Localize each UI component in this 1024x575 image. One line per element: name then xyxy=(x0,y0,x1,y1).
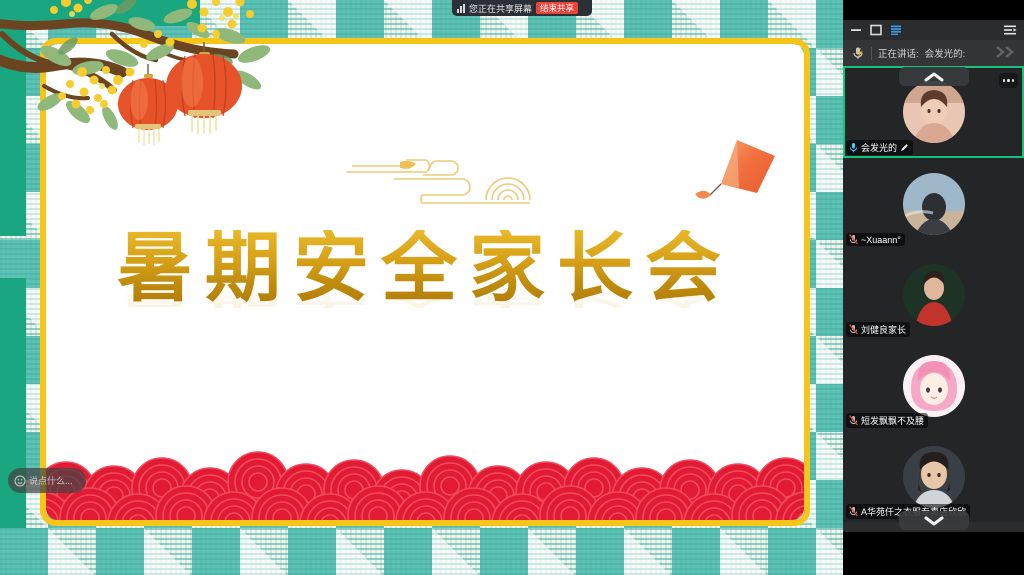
speaking-speaker-name: 会发光的: xyxy=(925,46,966,60)
mic-muted-icon xyxy=(849,234,858,245)
avatar xyxy=(903,81,965,143)
avatar xyxy=(903,173,965,235)
participant-name: 会发光的 xyxy=(861,141,897,154)
participant-name: ~Xuaann° xyxy=(861,235,901,245)
panel-titlebar xyxy=(843,20,1024,40)
chat-input-placeholder: 说点什么... xyxy=(29,474,73,487)
chat-input[interactable]: 说点什么... xyxy=(8,468,86,493)
avatar xyxy=(903,264,965,326)
double-chevron-right-icon[interactable] xyxy=(994,46,1016,58)
participant-name: 刘健良家长 xyxy=(861,323,906,336)
participant-tile[interactable]: 刘健良家长 xyxy=(843,249,1024,340)
chevron-up-icon xyxy=(924,72,944,82)
participant-name: 短发飘飘不及腰 xyxy=(861,414,924,427)
meeting-screen-share-window: 暑期安全家长会 暑期安全家长会 xyxy=(0,0,1024,575)
participant-name-chip: 短发飘飘不及腰 xyxy=(846,413,928,428)
stop-share-button[interactable]: 结束共享 xyxy=(536,2,578,14)
smiley-icon xyxy=(14,475,26,487)
osmanthus-branch-decoration xyxy=(0,0,302,184)
participant-tile[interactable]: A华苑仟之衣服专卖店欣欣 xyxy=(843,431,1024,522)
more-dots-icon[interactable] xyxy=(999,73,1018,88)
mic-on-icon xyxy=(849,142,858,153)
maximize-icon[interactable] xyxy=(870,24,882,36)
shared-screen-area: 暑期安全家长会 暑期安全家长会 xyxy=(0,0,843,575)
mic-speaking-icon xyxy=(851,46,865,60)
participant-video-panel: 正在讲话: 会发光的: xyxy=(843,20,1024,532)
speaking-indicator-bar: 正在讲话: 会发光的: xyxy=(843,40,1024,66)
speaking-label: 正在讲话: xyxy=(878,46,919,60)
participant-tile[interactable]: ~Xuaann° xyxy=(843,158,1024,249)
list-menu-icon[interactable] xyxy=(1003,23,1017,37)
layout-columns-icon[interactable] xyxy=(890,24,902,36)
mic-muted-icon xyxy=(849,324,858,335)
scroll-up-button[interactable] xyxy=(899,67,969,86)
participant-name-chip: ~Xuaann° xyxy=(846,233,905,246)
signal-bars-icon xyxy=(457,4,465,13)
participant-name-chip: 会发光的 xyxy=(846,140,913,155)
minimize-icon[interactable] xyxy=(850,24,862,36)
screen-share-banner: 您正在共享屏幕 结束共享 xyxy=(452,0,592,16)
scroll-down-button[interactable] xyxy=(899,511,969,530)
pencil-icon[interactable] xyxy=(900,143,909,152)
avatar xyxy=(903,355,965,417)
chevron-down-icon xyxy=(924,516,944,526)
share-status-text: 您正在共享屏幕 xyxy=(469,2,532,15)
slide-title: 暑期安全家长会 xyxy=(46,230,804,306)
participant-name-chip: 刘健良家长 xyxy=(846,322,910,337)
speaking-bar-separator xyxy=(871,47,872,60)
participant-tile-list: 会发光的 xyxy=(843,66,1024,532)
mic-muted-icon xyxy=(849,506,858,517)
participant-tile[interactable]: 短发飘飘不及腰 xyxy=(843,340,1024,431)
avatar xyxy=(903,446,965,508)
mic-muted-icon xyxy=(849,415,858,426)
